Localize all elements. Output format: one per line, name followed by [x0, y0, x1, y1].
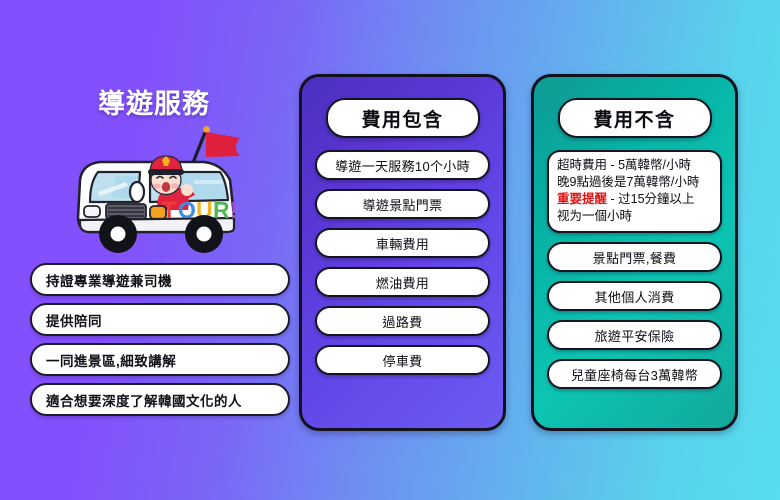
card-excluded-item-list: 超時費用 - 5萬韓幣/小時 晚9點過後是7萬韓幣/小時 重要提醒 - 过15分… [547, 150, 722, 389]
left-feature-list: 持證專業導遊兼司機 提供陪同 一同進景區,細致講解 適合想要深度了解韓國文化的人 [30, 263, 290, 423]
list-item[interactable]: 其他個人消費 [547, 281, 722, 311]
list-item[interactable]: 適合想要深度了解韓國文化的人 [30, 383, 290, 416]
card-included-header: 費用包含 [326, 98, 480, 138]
note-line-3-rest: - 过15分鐘以上 [607, 192, 695, 206]
list-item[interactable]: 過路費 [315, 306, 490, 336]
tour-bus-illustration: T O U R ! [54, 118, 264, 268]
included-item-label: 燃油費用 [376, 273, 429, 292]
left-feature-label: 持證專業導遊兼司機 [46, 270, 172, 290]
card-fees-included: 費用包含 導遊一天服務10个小時 導遊景點門票 車輛費用 燃油費用 過路費 停車… [299, 74, 506, 431]
note-line-3: 重要提醒 - 过15分鐘以上 [557, 191, 712, 208]
list-item[interactable]: 燃油費用 [315, 267, 490, 297]
card-excluded-title: 費用不含 [593, 105, 675, 132]
list-item[interactable]: 導遊景點門票 [315, 189, 490, 219]
left-feature-label: 提供陪同 [46, 310, 102, 330]
promo-graphic: 導遊服務 [0, 0, 780, 500]
left-feature-label: 一同進景區,細致講解 [46, 350, 176, 370]
list-item[interactable]: 車輛費用 [315, 228, 490, 258]
card-excluded-header: 費用不含 [558, 98, 712, 138]
list-item[interactable]: 停車費 [315, 345, 490, 375]
left-panel: 導遊服務 [18, 70, 290, 430]
svg-text:!: ! [230, 197, 238, 223]
note-line-4: 视为一個小時 [557, 208, 712, 225]
list-item[interactable]: 提供陪同 [30, 303, 290, 336]
list-item[interactable]: 旅遊平安保險 [547, 320, 722, 350]
card-fees-excluded: 費用不含 超時費用 - 5萬韓幣/小時 晚9點過後是7萬韓幣/小時 重要提醒 -… [531, 74, 738, 431]
note-line-1: 超時費用 - 5萬韓幣/小時 [557, 157, 712, 174]
included-item-label: 停車費 [383, 351, 423, 370]
card-included-item-list: 導遊一天服務10个小時 導遊景點門票 車輛費用 燃油費用 過路費 停車費 [315, 150, 490, 375]
svg-text:T: T [162, 197, 176, 223]
left-feature-label: 適合想要深度了解韓國文化的人 [46, 390, 242, 410]
included-item-label: 車輛費用 [376, 234, 429, 253]
list-item[interactable]: 景點門票,餐費 [547, 242, 722, 272]
list-item[interactable]: 導遊一天服務10个小時 [315, 150, 490, 180]
excluded-item-label: 兒童座椅每台3萬韓幣 [571, 365, 698, 384]
important-alert-label: 重要提醒 [557, 192, 607, 206]
included-item-label: 過路費 [383, 312, 423, 331]
excluded-item-label: 其他個人消費 [595, 287, 675, 306]
note-line-2: 晚9點過後是7萬韓幣/小時 [557, 174, 712, 191]
card-included-title: 費用包含 [361, 105, 443, 132]
excluded-item-label: 景點門票,餐費 [593, 248, 677, 267]
excluded-item-label: 旅遊平安保險 [595, 326, 675, 345]
list-item[interactable]: 兒童座椅每台3萬韓幣 [547, 359, 722, 389]
list-item[interactable]: 持證專業導遊兼司機 [30, 263, 290, 296]
included-item-label: 導遊一天服務10个小時 [335, 156, 470, 175]
page-title: 導遊服務 [18, 82, 290, 121]
list-item[interactable]: 一同進景區,細致講解 [30, 343, 290, 376]
overtime-fee-note[interactable]: 超時費用 - 5萬韓幣/小時 晚9點過後是7萬韓幣/小時 重要提醒 - 过15分… [547, 150, 722, 233]
included-item-label: 導遊景點門票 [363, 195, 443, 214]
